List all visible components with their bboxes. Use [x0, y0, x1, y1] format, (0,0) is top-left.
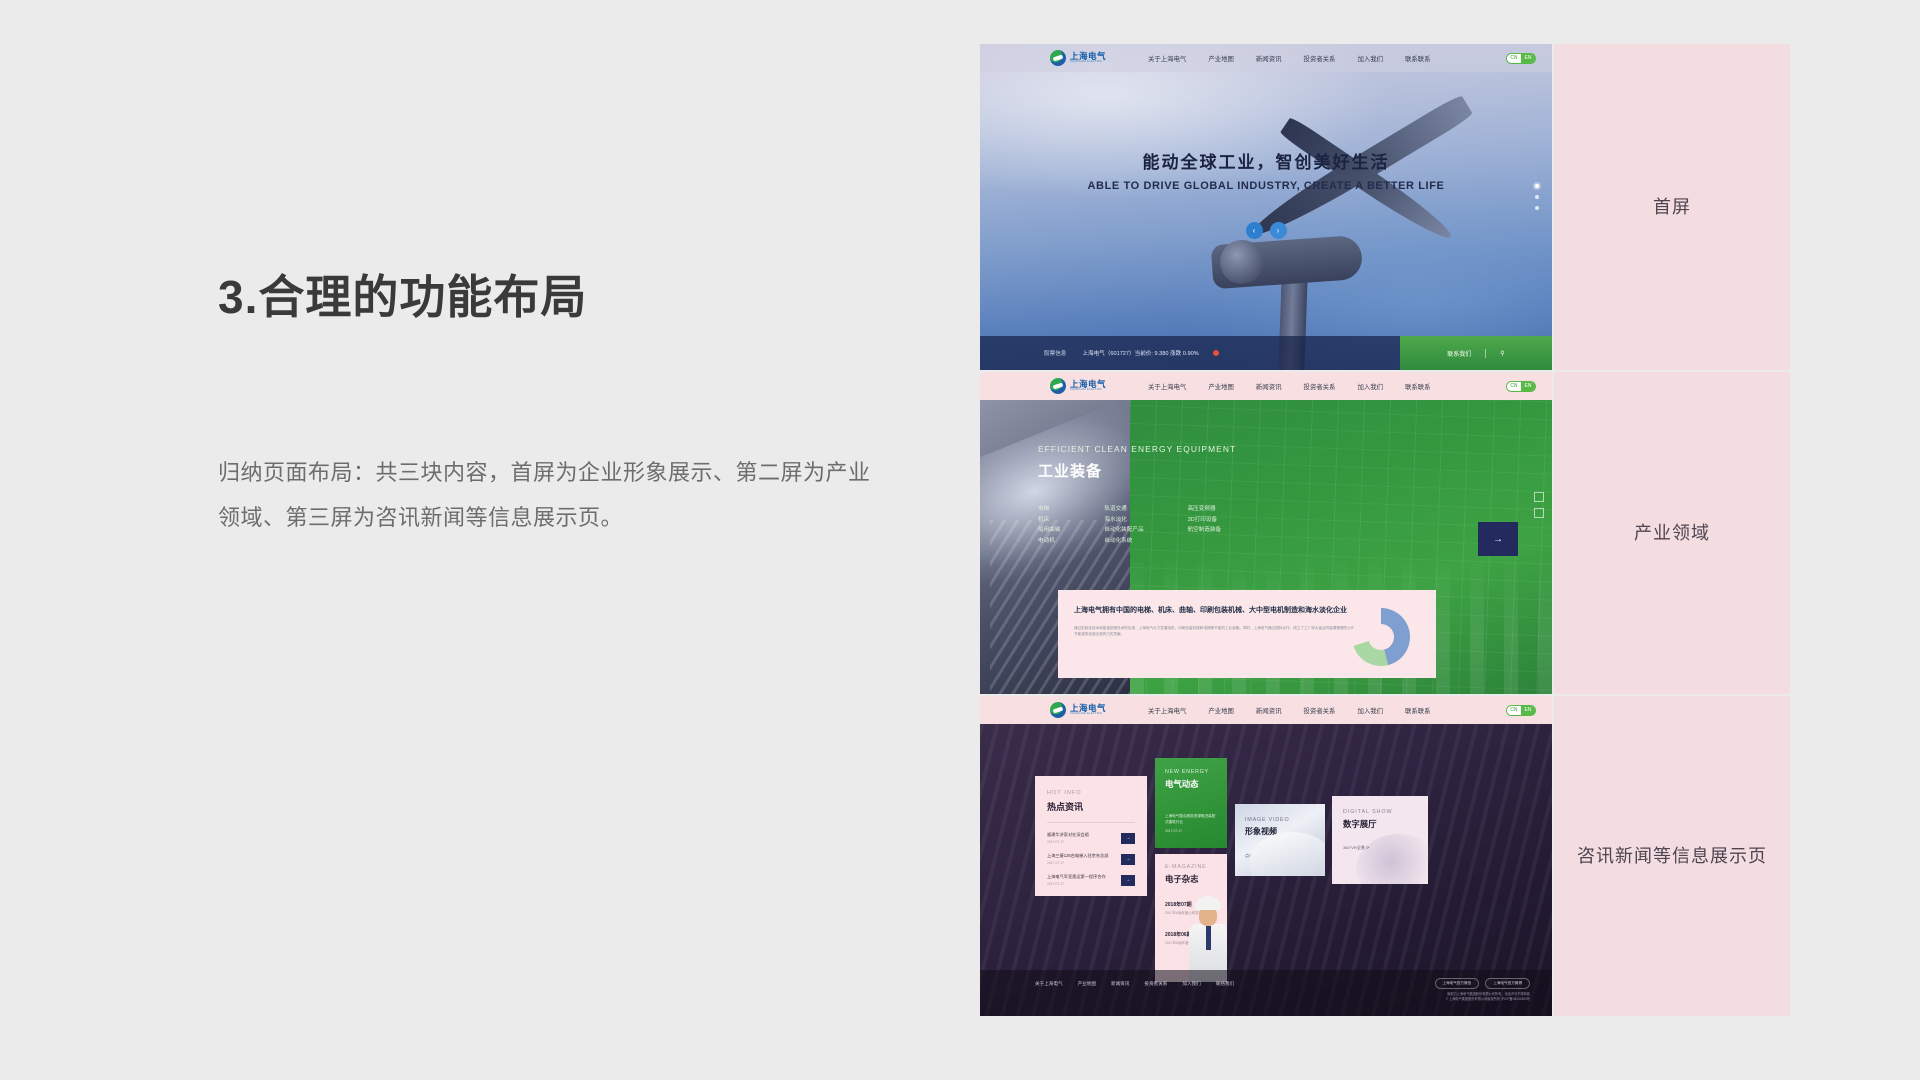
slide-description: 归纳页面布局：共三块内容，首屏为企业形象展示、第二屏为产业领域、第三屏为咨讯新闻… — [218, 450, 883, 540]
list-item[interactable]: 自动化系统 — [1104, 536, 1143, 547]
list-item[interactable]: 电动机 — [1038, 536, 1060, 547]
screenshot-homepage-hero: 上海电气 SHANGHAI ELECTRIC 关于上海电气 产业地图 新闻资讯 … — [980, 44, 1552, 370]
carousel-prev-button[interactable]: ‹ — [1246, 222, 1263, 239]
new-energy-desc: 上海电气整合精英资源驱进装配式建筑行业 — [1165, 814, 1217, 825]
logo-mark-icon — [1050, 702, 1066, 718]
contact-cta-bar[interactable]: 联系我们 ⚲ — [1400, 336, 1552, 370]
divider — [1047, 822, 1135, 823]
card-image-video[interactable]: IMAGE VIDEO 形象视频 点击播放 ⊙ — [1235, 804, 1325, 876]
list-view-icon[interactable] — [1534, 508, 1544, 518]
nav-item-contact[interactable]: 联系联系 — [1405, 54, 1431, 63]
language-en[interactable]: EN — [1521, 705, 1535, 716]
sector-eyebrow: EFFICIENT CLEAN ENERGY EQUIPMENT — [1038, 444, 1236, 454]
site-header: 上海电气 SHANGHAI ELECTRIC 关于上海电气 产业地图 新闻资讯 … — [980, 696, 1552, 724]
list-item[interactable]: 机床 — [1038, 515, 1060, 526]
nav-item-news[interactable]: 新闻资讯 — [1256, 54, 1282, 63]
footer-nav-contact[interactable]: 联络我们 — [1216, 981, 1234, 987]
language-toggle[interactable]: CN EN — [1506, 381, 1536, 392]
cta-divider — [1485, 349, 1486, 358]
legal-line-2: © 上海电气集团股份有限公司版权所有 沪ICP备05034383号 — [1446, 997, 1530, 1002]
sector-column-3: 高压变频器 3D打印设备 航空制造装备 — [1188, 504, 1222, 546]
list-item[interactable]: 高压变频器 — [1188, 504, 1222, 515]
wechat-link[interactable]: 上海电气官方微信 — [1435, 978, 1480, 989]
nav-item-industry-map[interactable]: 产业地图 — [1208, 382, 1234, 391]
hero-headline-cn: 能动全球工业，智创美好生活 — [980, 148, 1552, 173]
magazine-title: 电子杂志 — [1165, 873, 1227, 885]
carousel-dot[interactable] — [1535, 206, 1539, 210]
sector-card-text: 通过定制化技术和能量回馈技术的应用，上海电气大力发展电机、印刷包装机械和电梯等节… — [1074, 625, 1364, 637]
site-footer: 关于上海电气 产业地图 新闻资讯 投资者关系 加入我们 联络我们 上海电气官方微… — [980, 970, 1552, 1016]
card-e-magazine[interactable]: E-MAGAZINE 电子杂志 2018年07期 2017年A版年度公布发布 2… — [1155, 854, 1227, 982]
slide-text-column: 3.合理的功能布局 归纳页面布局：共三块内容，首屏为企业形象展示、第二屏为产业领… — [218, 270, 898, 540]
language-en[interactable]: EN — [1521, 53, 1535, 64]
sector-card-heading: 上海电气拥有中国的电梯、机床、曲轴、印刷包装机械、大中型电机制造和海水淡化企业 — [1074, 605, 1374, 616]
footer-nav-industry-map[interactable]: 产业地图 — [1078, 981, 1096, 987]
new-energy-date: 2017.07.17 — [1165, 829, 1227, 833]
language-cn[interactable]: CN — [1507, 705, 1521, 716]
nav-item-investor[interactable]: 投资者关系 — [1303, 706, 1335, 715]
logo-en: SHANGHAI ELECTRIC — [1070, 713, 1106, 716]
carousel-dots — [1535, 184, 1539, 217]
annotation-first-screen: 首屏 — [1554, 44, 1790, 370]
nav-item-about[interactable]: 关于上海电气 — [1148, 706, 1186, 715]
page-title: 3.合理的功能布局 — [218, 270, 898, 325]
arrow-right-icon[interactable]: → — [1121, 875, 1135, 886]
sector-info-card: 上海电气拥有中国的电梯、机床、曲轴、印刷包装机械、大中型电机制造和海水淡化企业 … — [1058, 590, 1436, 678]
hard-hat-icon — [1195, 896, 1221, 910]
architecture-graphic — [1249, 832, 1325, 876]
language-cn[interactable]: CN — [1507, 381, 1521, 392]
turbine-hub — [1220, 240, 1264, 284]
hot-item-title: 上海三菱126台电梯入驻京东总部 — [1047, 853, 1121, 859]
logo-en: SHANGHAI ELECTRIC — [1070, 389, 1106, 392]
hot-item-text-wrap: 上海电气军宣奥运第一程序合作 2017.07.17 — [1047, 874, 1121, 886]
sector-heading: EFFICIENT CLEAN ENERGY EQUIPMENT 工业装备 — [1038, 444, 1236, 481]
social-links: 上海电气官方微信 上海电气官方微博 — [1435, 978, 1531, 989]
nav-item-about[interactable]: 关于上海电气 — [1148, 382, 1186, 391]
sector-side-controls — [1534, 492, 1544, 524]
digital-title: 数字展厅 — [1343, 818, 1428, 830]
sector-next-button[interactable]: → — [1478, 522, 1518, 556]
list-item[interactable]: 海水淡化 — [1104, 515, 1143, 526]
list-item[interactable]: 航空制造装备 — [1188, 525, 1222, 536]
sector-list-columns: 电梯 机床 船用曲轴 电动机 轨道交通 海水淡化 自动化装配产品 自动化系统 高… — [1038, 504, 1221, 546]
site-logo[interactable]: 上海电气 SHANGHAI ELECTRIC — [1050, 50, 1106, 66]
nav-item-industry-map[interactable]: 产业地图 — [1208, 706, 1234, 715]
pie-chart-graphic — [1352, 608, 1410, 666]
magazine-eyebrow: E-MAGAZINE — [1165, 864, 1227, 870]
digital-eyebrow: DIGITAL SHOW — [1343, 809, 1428, 815]
hero-background — [980, 44, 1552, 370]
carousel-dot[interactable] — [1535, 195, 1539, 199]
site-logo[interactable]: 上海电气 SHANGHAI ELECTRIC — [1050, 378, 1106, 394]
arrow-right-icon[interactable]: → — [1121, 854, 1135, 865]
photo-tie — [1206, 926, 1211, 950]
list-item[interactable]: 上海三菱126台电梯入驻京东总部 2017.07.17 → — [1047, 853, 1135, 865]
site-header: 上海电气 SHANGHAI ELECTRIC 关于上海电气 产业地图 新闻资讯 … — [980, 44, 1552, 72]
language-toggle[interactable]: CN EN — [1506, 53, 1536, 64]
slide-canvas: 3.合理的功能布局 归纳页面布局：共三块内容，首屏为企业形象展示、第二屏为产业领… — [0, 0, 1920, 1080]
footer-nav-about[interactable]: 关于上海电气 — [1035, 981, 1063, 987]
mockup-column: 上海电气 SHANGHAI ELECTRIC 关于上海电气 产业地图 新闻资讯 … — [980, 44, 1552, 1016]
list-item[interactable]: 顺建华济家对在深会晤 2017.07.17 → — [1047, 832, 1135, 844]
grid-view-icon[interactable] — [1534, 492, 1544, 502]
nav-item-investor[interactable]: 投资者关系 — [1303, 382, 1335, 391]
footer-nav-investor[interactable]: 投资者关系 — [1144, 981, 1167, 987]
list-item[interactable]: 船用曲轴 — [1038, 525, 1060, 536]
nav-item-contact[interactable]: 联系联系 — [1405, 706, 1431, 715]
list-item[interactable]: 自动化装配产品 — [1104, 525, 1143, 536]
hot-item-text-wrap: 上海三菱126台电梯入驻京东总部 2017.07.17 — [1047, 853, 1121, 865]
screenshot-industry-sector: 上海电气 SHANGHAI ELECTRIC 关于上海电气 产业地图 新闻资讯 … — [980, 372, 1552, 694]
card-digital-show[interactable]: DIGITAL SHOW 数字展厅 360°VR全景 ⟳ — [1332, 796, 1428, 884]
hot-item-date: 2017.07.17 — [1047, 840, 1121, 844]
site-logo[interactable]: 上海电气 SHANGHAI ELECTRIC — [1050, 702, 1106, 718]
nav-item-investor[interactable]: 投资者关系 — [1303, 54, 1335, 63]
nav-item-join-us[interactable]: 加入我们 — [1357, 706, 1383, 715]
stock-ticker-value: 上海电气（601727）当前价: 9.380 涨跌 0.90% — [1082, 349, 1198, 357]
logo-en: SHANGHAI ELECTRIC — [1070, 61, 1106, 64]
new-energy-title: 电气动态 — [1165, 778, 1227, 790]
annotation-industry-sector: 产业领域 — [1554, 372, 1790, 694]
legal-text: 版权归上海电气集团股份有限公司所有，未经许可不得转载 © 上海电气集团股份有限公… — [1446, 992, 1530, 1002]
nav-item-industry-map[interactable]: 产业地图 — [1208, 54, 1234, 63]
hot-item-date: 2017.07.17 — [1047, 882, 1121, 886]
contact-cta-label[interactable]: 联系我们 — [1447, 349, 1471, 358]
footer-nav-join-us[interactable]: 加入我们 — [1182, 981, 1200, 987]
search-icon[interactable]: ⚲ — [1500, 350, 1504, 357]
site-header: 上海电气 SHANGHAI ELECTRIC 关于上海电气 产业地图 新闻资讯 … — [980, 372, 1552, 400]
footer-nav-news[interactable]: 新闻资讯 — [1111, 981, 1129, 987]
annotation-column: 首屏 产业领域 咨讯新闻等信息展示页 — [1554, 44, 1790, 1016]
carousel-controls: ‹ › — [980, 222, 1552, 239]
logo-text: 上海电气 SHANGHAI ELECTRIC — [1070, 380, 1106, 392]
nav-item-news[interactable]: 新闻资讯 — [1256, 382, 1282, 391]
hot-info-eyebrow: HOT INFO — [1047, 790, 1147, 796]
arrow-right-icon[interactable]: → — [1121, 833, 1135, 844]
card-new-energy[interactable]: NEW ENERGY 电气动态 上海电气整合精英资源驱进装配式建筑行业 2017… — [1155, 758, 1227, 848]
language-en[interactable]: EN — [1521, 381, 1535, 392]
hot-item-date: 2017.07.17 — [1047, 861, 1121, 865]
hero-headline-en: ABLE TO DRIVE GLOBAL INDUSTRY, CREATE A … — [980, 180, 1552, 192]
hot-item-title: 上海电气军宣奥运第一程序合作 — [1047, 874, 1121, 880]
carousel-dot[interactable] — [1535, 184, 1539, 188]
hot-item-text-wrap: 顺建华济家对在深会晤 2017.07.17 — [1047, 832, 1121, 844]
screenshot-news-info: 上海电气 SHANGHAI ELECTRIC 关于上海电气 产业地图 新闻资讯 … — [980, 696, 1552, 1016]
sector-column-2: 轨道交通 海水淡化 自动化装配产品 自动化系统 — [1104, 504, 1143, 546]
network-globe-graphic — [1356, 834, 1428, 884]
nav-item-contact[interactable]: 联系联系 — [1405, 382, 1431, 391]
site-nav: 关于上海电气 产业地图 新闻资讯 投资者关系 加入我们 联系联系 — [1148, 54, 1453, 63]
weibo-link[interactable]: 上海电气官方微博 — [1485, 978, 1530, 989]
sector-title: 工业装备 — [1038, 460, 1236, 481]
video-eyebrow: IMAGE VIDEO — [1245, 817, 1325, 823]
logo-mark-icon — [1050, 50, 1066, 66]
hot-item-title: 顺建华济家对在深会晤 — [1047, 832, 1121, 838]
stock-ticker-label: 股票信息 — [1044, 349, 1066, 357]
logo-text: 上海电气 SHANGHAI ELECTRIC — [1070, 52, 1106, 64]
site-nav: 关于上海电气 产业地图 新闻资讯 投资者关系 加入我们 联系联系 — [1148, 706, 1453, 715]
sector-column-1: 电梯 机床 船用曲轴 电动机 — [1038, 504, 1060, 546]
nav-item-join-us[interactable]: 加入我们 — [1357, 54, 1383, 63]
stock-up-indicator-icon — [1213, 350, 1219, 356]
site-nav: 关于上海电气 产业地图 新闻资讯 投资者关系 加入我们 联系联系 — [1148, 382, 1453, 391]
list-item[interactable]: 电梯 — [1038, 504, 1060, 515]
nav-item-join-us[interactable]: 加入我们 — [1357, 382, 1383, 391]
annotation-news-info: 咨讯新闻等信息展示页 — [1554, 696, 1790, 1016]
carousel-next-button[interactable]: › — [1270, 222, 1287, 239]
language-toggle[interactable]: CN EN — [1506, 705, 1536, 716]
nav-item-about[interactable]: 关于上海电气 — [1148, 54, 1186, 63]
hero-text: 能动全球工业，智创美好生活 ABLE TO DRIVE GLOBAL INDUS… — [980, 148, 1552, 192]
nav-item-news[interactable]: 新闻资讯 — [1256, 706, 1282, 715]
new-energy-eyebrow: NEW ENERGY — [1165, 769, 1227, 775]
card-hot-info[interactable]: HOT INFO 热点资讯 顺建华济家对在深会晤 2017.07.17 → 上海… — [1035, 776, 1147, 896]
hot-info-title: 热点资讯 — [1047, 800, 1147, 813]
logo-mark-icon — [1050, 378, 1066, 394]
list-item[interactable]: 上海电气军宣奥运第一程序合作 2017.07.17 → — [1047, 874, 1135, 886]
list-item[interactable]: 轨道交通 — [1104, 504, 1143, 515]
language-cn[interactable]: CN — [1507, 53, 1521, 64]
logo-text: 上海电气 SHANGHAI ELECTRIC — [1070, 704, 1106, 716]
list-item[interactable]: 3D打印设备 — [1188, 515, 1222, 526]
